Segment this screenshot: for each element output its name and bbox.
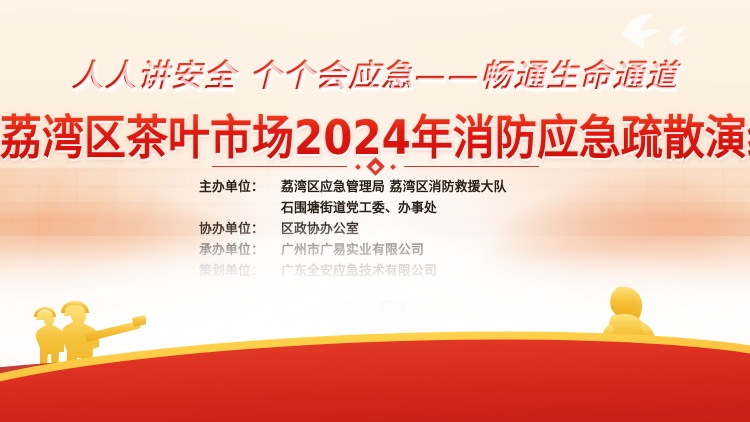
- divider-diamond-core: [371, 162, 379, 170]
- organizer-value: 荔湾区应急管理局 荔湾区消防救援大队: [281, 176, 551, 195]
- bottom-ribbon-band: [0, 318, 750, 422]
- divider-diamond-icon: [366, 157, 384, 175]
- organizer-value: 石围塘街道党工委、办事处: [281, 197, 551, 216]
- poster-slogan: 人人讲安全 个个会应急——畅通生命通道: [0, 50, 750, 95]
- divider-rule-left: [212, 166, 347, 168]
- divider-dot-right: [390, 164, 396, 170]
- divider-dot-left: [355, 164, 361, 170]
- organizer-label: 主办单位：: [199, 176, 281, 195]
- divider-rule-right: [404, 166, 539, 168]
- poster-canvas: 人人讲安全 个个会应急——畅通生命通道 荔湾区茶叶市场2024年消防应急疏散演练…: [0, 0, 750, 422]
- organizer-row: 石围塘街道党工委、办事处: [199, 197, 551, 216]
- organizer-row: 主办单位： 荔湾区应急管理局 荔湾区消防救援大队: [199, 176, 551, 195]
- divider-ornament: [0, 160, 750, 173]
